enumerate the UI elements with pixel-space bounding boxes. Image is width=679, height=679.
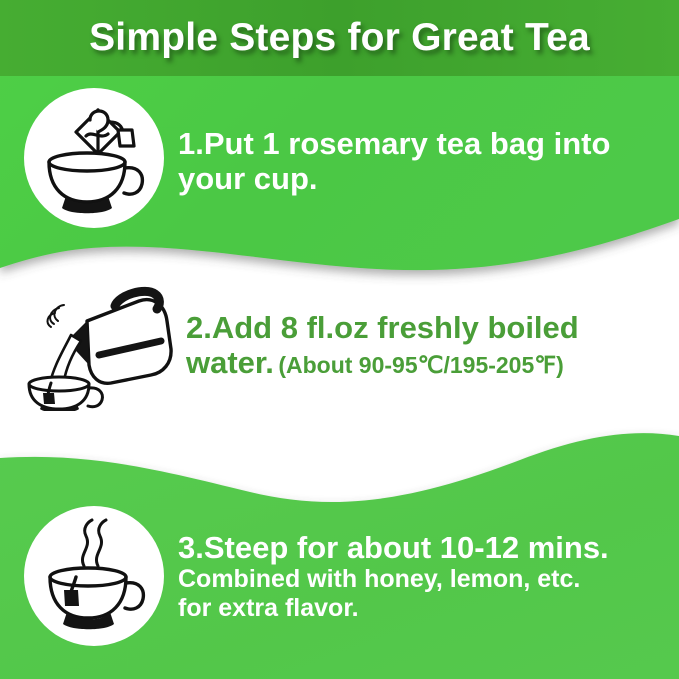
tea-brewing-instructions-poster: Simple Steps for Great Tea (0, 0, 679, 679)
step-2-text: 2.Add 8 fl.oz freshly boiled water. (Abo… (178, 282, 668, 381)
kettle-pouring-into-cup-icon (19, 283, 177, 411)
step-item-2: 2.Add 8 fl.oz freshly boiled water. (Abo… (18, 282, 668, 412)
step-item-1: 1.Put 1 rosemary tea bag into your cup. (24, 88, 664, 228)
step-1-line-1: 1.Put 1 rosemary tea bag into (178, 126, 664, 161)
step-2-line-2-main: water. (186, 345, 274, 380)
step-2-icon-wrap (18, 282, 178, 412)
step-1-icon-circle (24, 88, 164, 228)
step-2-icon-plain (18, 282, 178, 412)
step-3-line-3: for extra flavor. (178, 594, 664, 623)
step-item-3: 3.Steep for about 10-12 mins. Combined w… (24, 506, 664, 646)
step-2-temperature-note: (About 90-95℃/195-205℉) (278, 352, 563, 378)
step-3-line-2: Combined with honey, lemon, etc. (178, 565, 664, 594)
step-2-line-2: water. (About 90-95℃/195-205℉) (186, 345, 668, 380)
step-1-line-2: your cup. (178, 161, 664, 196)
step-3-icon-circle (24, 506, 164, 646)
step-3-icon-wrap (24, 506, 164, 646)
step-1-icon-wrap (24, 88, 164, 228)
teacup-with-pyramid-teabag-icon (32, 96, 156, 220)
page-title: Simple Steps for Great Tea (89, 16, 590, 60)
step-3-text: 3.Steep for about 10-12 mins. Combined w… (164, 506, 664, 622)
step-3-line-1: 3.Steep for about 10-12 mins. (178, 530, 664, 565)
step-2-line-1: 2.Add 8 fl.oz freshly boiled (186, 310, 668, 345)
step-1-text: 1.Put 1 rosemary tea bag into your cup. (164, 88, 664, 197)
poster-header: Simple Steps for Great Tea (0, 0, 679, 76)
steaming-teacup-icon (32, 514, 156, 638)
